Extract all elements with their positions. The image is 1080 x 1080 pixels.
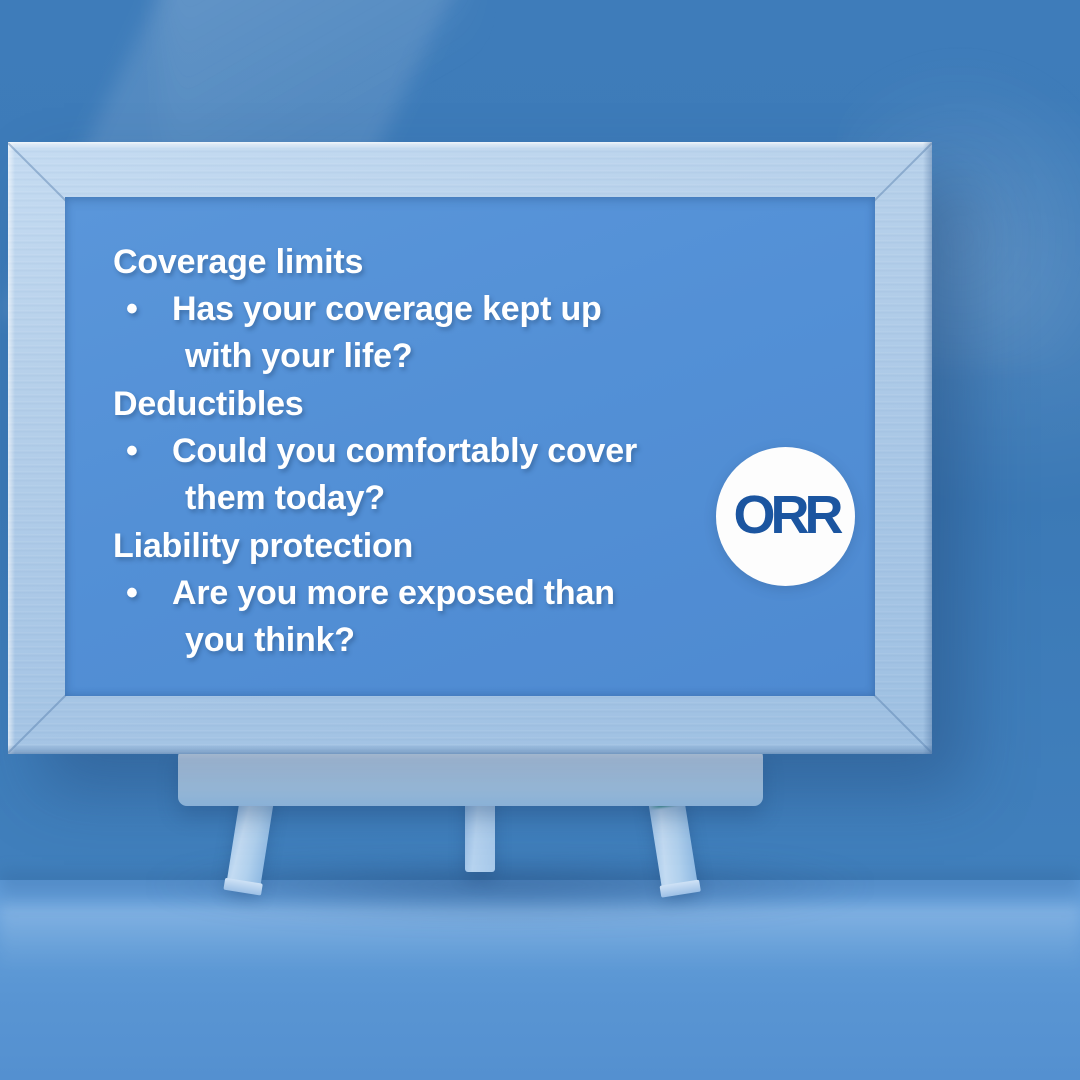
frame-bevel-top [8, 142, 932, 149]
bullet-block-liability-protection: • Are you more exposed than you think? [113, 570, 851, 664]
whiteboard-frame: Coverage limits • Has your coverage kept… [8, 142, 932, 754]
bullet-dot-icon: • [113, 428, 172, 475]
frame-bevel-left [8, 142, 15, 754]
frame-bevel-bottom [8, 745, 932, 754]
bullet-text-continued: you think? [113, 617, 851, 664]
scene-canvas: Coverage limits • Has your coverage kept… [0, 0, 1080, 1080]
bullet-dot-icon: • [113, 570, 172, 617]
bullet-text: Are you more exposed than [172, 570, 851, 617]
whiteboard-surface: Coverage limits • Has your coverage kept… [65, 197, 875, 696]
bullet-text-continued: with your life? [113, 333, 851, 380]
bullet-block-coverage-limits: • Has your coverage kept up with your li… [113, 286, 851, 380]
orr-logo: ORR [716, 447, 855, 586]
bullet-dot-icon: • [113, 286, 172, 333]
easel-ledge-bar [178, 748, 763, 806]
orr-logo-wordmark: ORR [727, 488, 845, 546]
bullet-item: • Has your coverage kept up [113, 286, 851, 333]
bullet-text: Has your coverage kept up [172, 286, 851, 333]
section-heading-coverage-limits: Coverage limits [113, 239, 851, 286]
bullet-item: • Are you more exposed than [113, 570, 851, 617]
frame-bevel-right [923, 142, 932, 754]
orr-logo-text: ORR [733, 488, 842, 545]
section-heading-deductibles: Deductibles [113, 381, 851, 428]
